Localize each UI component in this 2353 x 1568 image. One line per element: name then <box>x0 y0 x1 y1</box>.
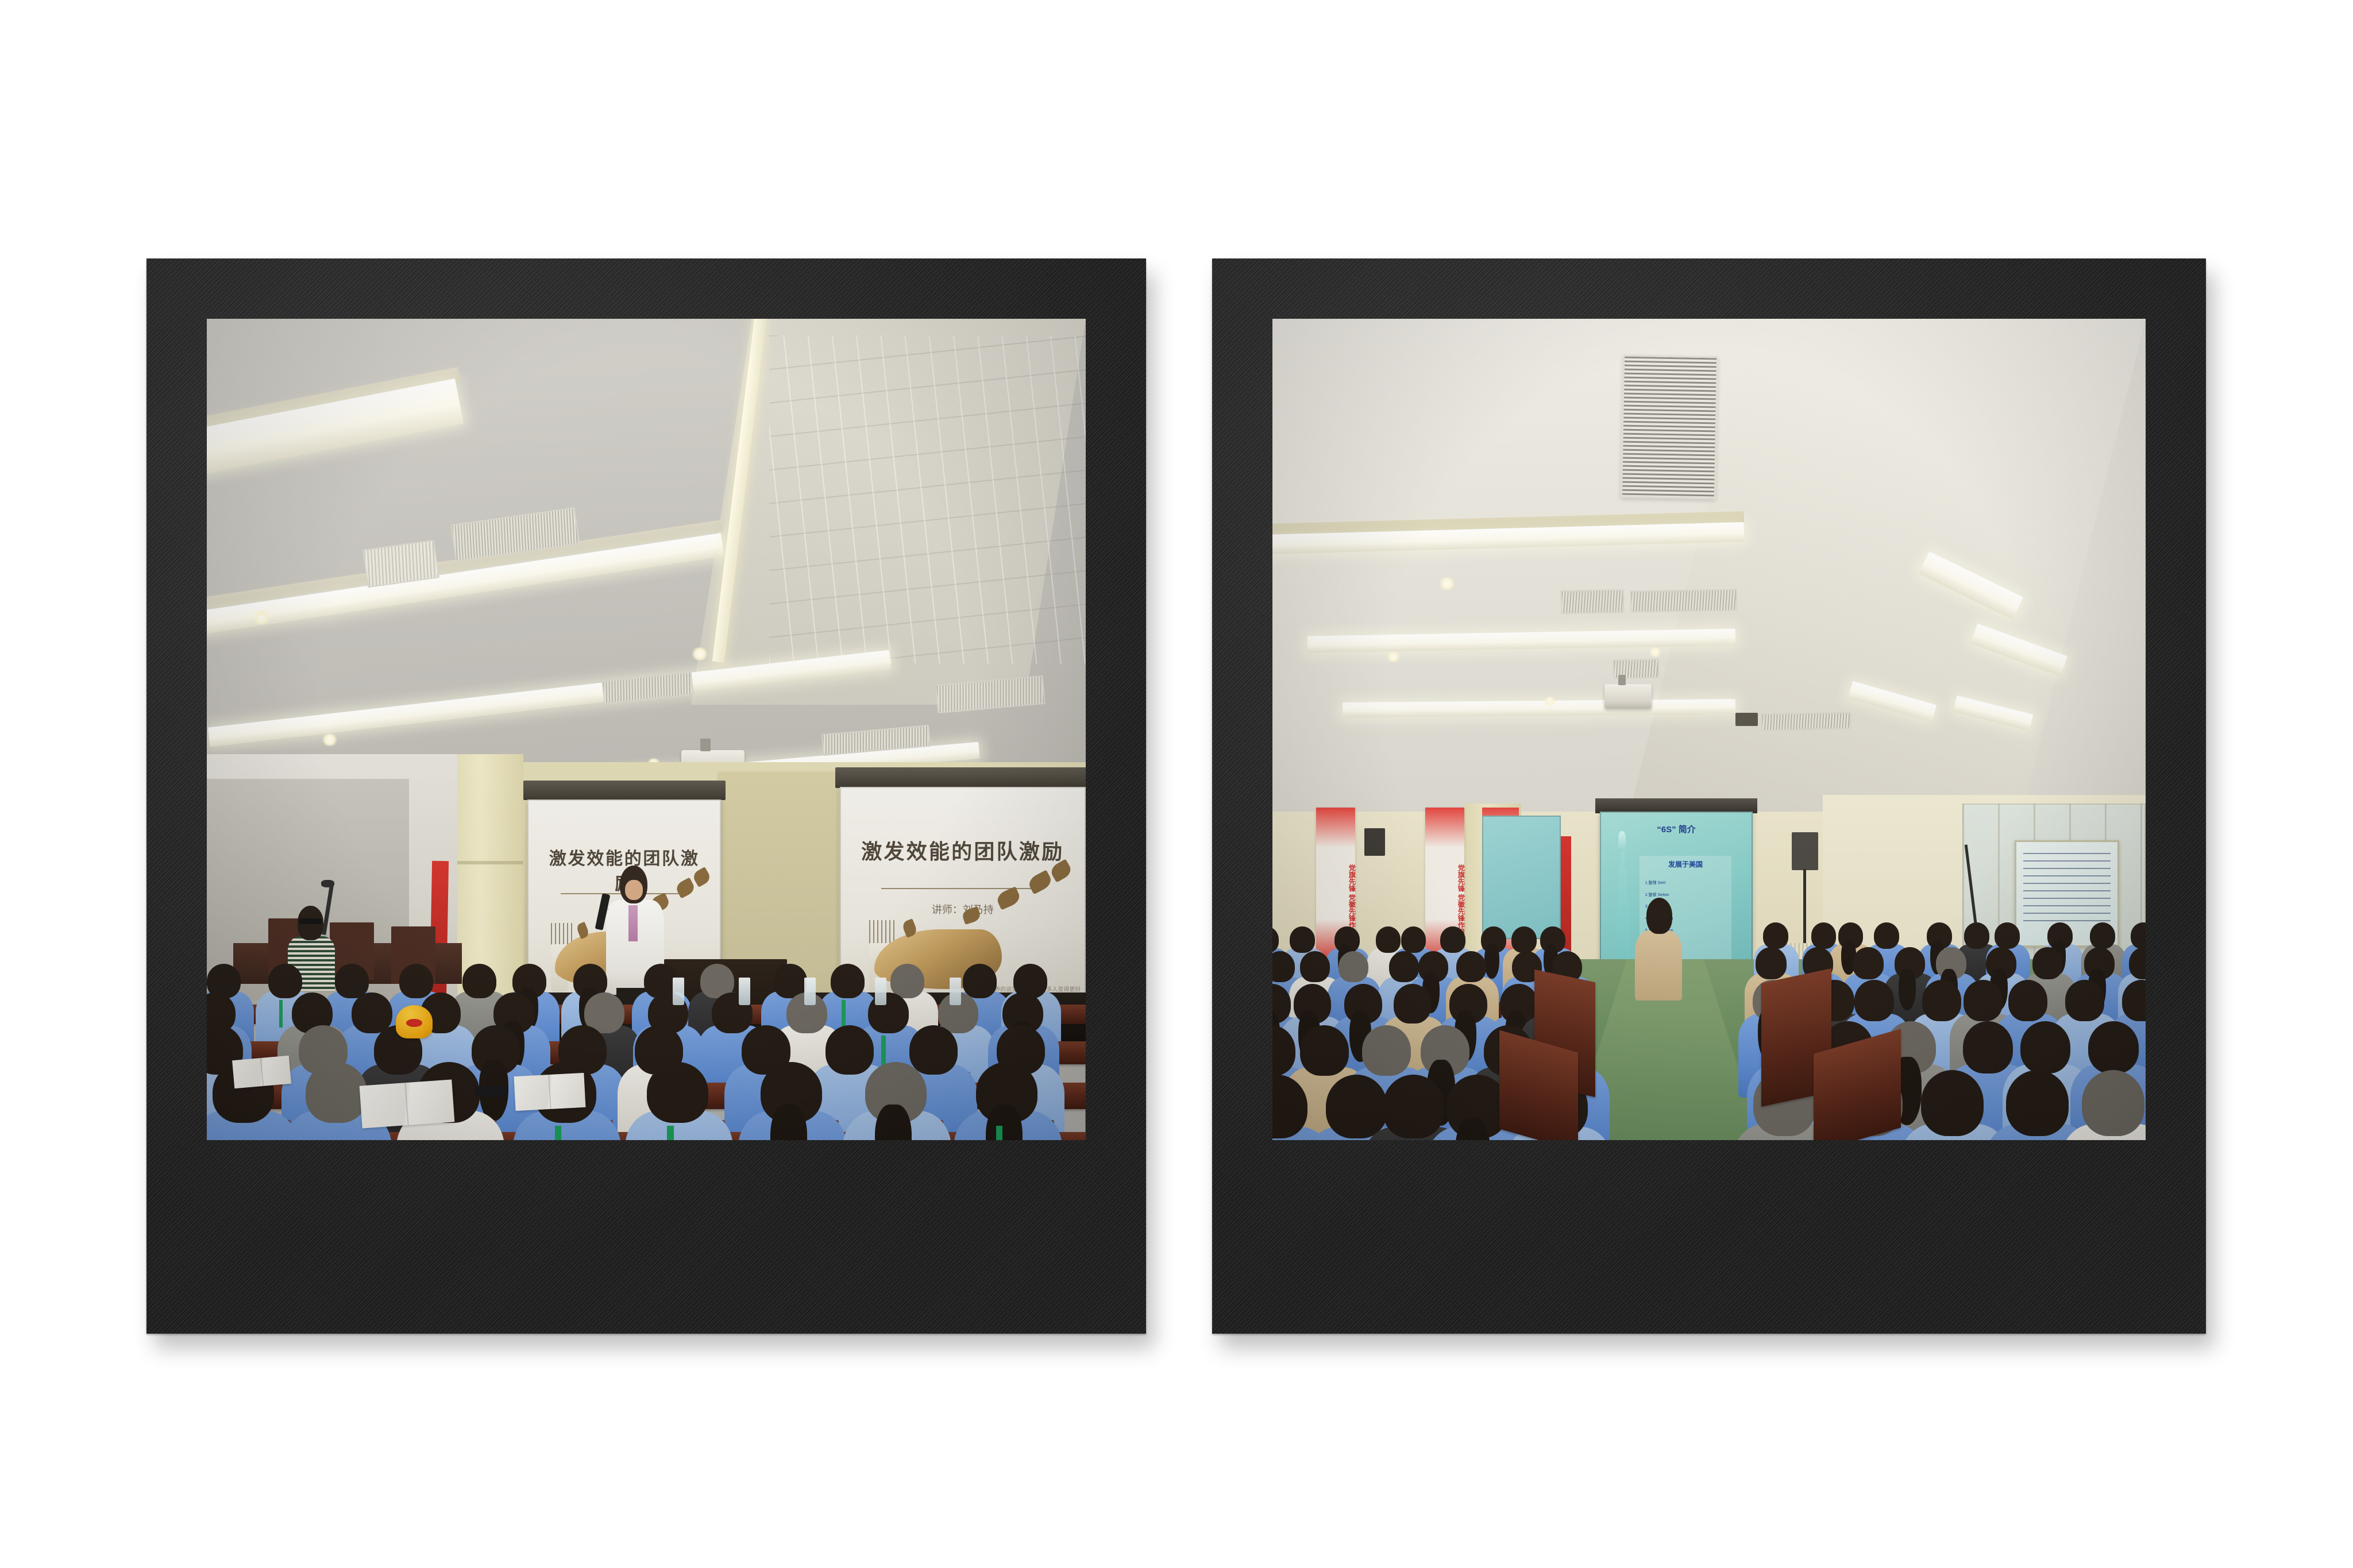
lanyard <box>996 1126 1003 1140</box>
attendee-head <box>268 964 302 998</box>
attendee-head <box>890 964 924 998</box>
wall-speaker-icon <box>1792 832 1818 870</box>
photo-frame-left[interactable]: 激发效能的团队激励 讲师：刘乃持 做最有营养的说话人、影响更多人变得更好 激发效… <box>146 258 1146 1334</box>
lanyard <box>555 1126 562 1140</box>
attendee-head <box>1995 922 2020 949</box>
downlight-icon <box>321 733 339 746</box>
glasses-icon <box>299 918 322 924</box>
attendee-head <box>831 964 865 998</box>
presenter-tie <box>628 905 637 941</box>
whiteboard-handwriting <box>2023 853 2111 927</box>
open-booklet <box>359 1079 454 1128</box>
water-bottle <box>673 978 684 1006</box>
attendee-head <box>909 1025 958 1075</box>
water-bottle <box>950 978 961 1006</box>
attendee-head <box>335 964 369 998</box>
attendee-head <box>1921 1070 1984 1136</box>
ceiling-projector <box>1604 684 1652 709</box>
downlight-icon <box>251 611 271 624</box>
wall-speaker-icon <box>1364 828 1385 856</box>
water-bottle <box>875 978 886 1006</box>
downlight-icon <box>1438 577 1456 589</box>
slide-title: 激发效能的团队激励 <box>859 835 1066 865</box>
photo-frame-right[interactable]: 党旗先锋 党徽先锋作用 党旗先锋 党徽先锋作用 党旗先锋 党徽先锋作用 “6S”… <box>1212 258 2206 1334</box>
ac-vent-icon <box>1560 589 1624 614</box>
downlight-icon <box>691 647 709 661</box>
attendee-head <box>1401 926 1426 953</box>
speaker-stand <box>1803 869 1806 943</box>
slide-art-runner <box>1027 870 1054 895</box>
attendee-head <box>2082 1070 2144 1136</box>
attendee-head <box>1383 1075 1444 1139</box>
attendee-head <box>2088 1021 2139 1074</box>
attendee-body <box>1635 930 1682 1001</box>
attendee-head <box>2090 922 2115 949</box>
presenter-face <box>625 880 643 901</box>
attendee-head <box>1440 926 1465 953</box>
attendee-head <box>1963 1021 2013 1074</box>
lanyard <box>667 1126 674 1140</box>
ac-vent-icon <box>1761 712 1851 731</box>
attendee-head <box>868 992 908 1034</box>
projection-screen-secondary <box>1482 816 1561 939</box>
attendee-head <box>1853 947 1883 979</box>
attendee-head <box>1511 926 1537 953</box>
attendee-head <box>2065 980 2104 1021</box>
attendee-head <box>1756 947 1786 979</box>
ac-vent-icon <box>1630 589 1738 613</box>
screen-roller-housing <box>835 767 1086 788</box>
attendee-head <box>1326 1075 1387 1139</box>
attendee-head <box>1964 980 2003 1021</box>
attendee-head <box>2008 980 2047 1021</box>
attendee-head <box>1964 922 1989 949</box>
downlight-icon <box>1386 651 1401 662</box>
downlight-icon <box>1648 647 1662 657</box>
attendee-head <box>1300 1025 1349 1076</box>
open-booklet <box>232 1056 291 1088</box>
attendee-head <box>1389 951 1419 982</box>
attendee-head <box>1854 980 1893 1021</box>
open-booklet <box>514 1072 585 1110</box>
slide-bullet: 1.整理 Seiri <box>1645 880 1666 886</box>
water-bottle <box>804 978 816 1006</box>
hard-hat <box>396 1005 433 1038</box>
attendee-head <box>1922 980 1961 1021</box>
slide-rule <box>881 888 1044 889</box>
water-bottle <box>739 978 750 1006</box>
photo-right[interactable]: 党旗先锋 党徽先锋作用 党旗先锋 党徽先锋作用 党旗先锋 党徽先锋作用 “6S”… <box>1272 319 2146 1140</box>
attendee-head <box>306 1062 367 1123</box>
attendee-head <box>963 964 997 998</box>
lanyard <box>279 1000 283 1028</box>
mobile-phone <box>475 1086 505 1097</box>
downlight-icon <box>1543 697 1556 706</box>
ponytail <box>1484 944 1499 978</box>
pillar-seam <box>457 861 523 864</box>
attendee-head <box>2020 1021 2071 1074</box>
ceiling-grid <box>769 335 1086 664</box>
attendee-head <box>2006 1070 2069 1136</box>
slide-subtitle: 发展于美国 <box>1640 859 1731 869</box>
attendee-head <box>647 1062 708 1123</box>
attendee-head <box>1290 926 1315 953</box>
attendee-head <box>399 964 433 998</box>
attendee-head <box>1811 922 1837 949</box>
screen-roller-housing <box>1595 798 1757 813</box>
attendee-head <box>1362 1025 1411 1076</box>
attendee-head <box>1456 951 1486 982</box>
attendee-head <box>1646 898 1673 934</box>
attendee-head <box>1874 922 1899 949</box>
attendee-head <box>1394 984 1432 1024</box>
attendee-head <box>826 1025 874 1075</box>
slide-bullet: 2.整顿 Seiton <box>1645 892 1669 898</box>
attendee-head <box>462 964 496 998</box>
screen-roller-housing <box>523 781 726 800</box>
photo-left[interactable]: 激发效能的团队激励 讲师：刘乃持 做最有营养的说话人、影响更多人变得更好 激发效… <box>207 319 1086 1140</box>
attendee-head <box>1763 922 1788 949</box>
attendee-head <box>352 992 392 1034</box>
attendee-head <box>1338 951 1368 982</box>
slide-title: “6S” 简介 <box>1609 823 1743 835</box>
attendee-head <box>1300 951 1330 982</box>
lanyard <box>842 1000 845 1028</box>
attendee-head <box>1376 926 1401 953</box>
ceiling-speaker-icon <box>1735 713 1758 726</box>
microphone-head-icon <box>321 880 334 887</box>
ac-return-grille-icon <box>1621 355 1718 500</box>
attendee-head <box>2032 947 2063 979</box>
